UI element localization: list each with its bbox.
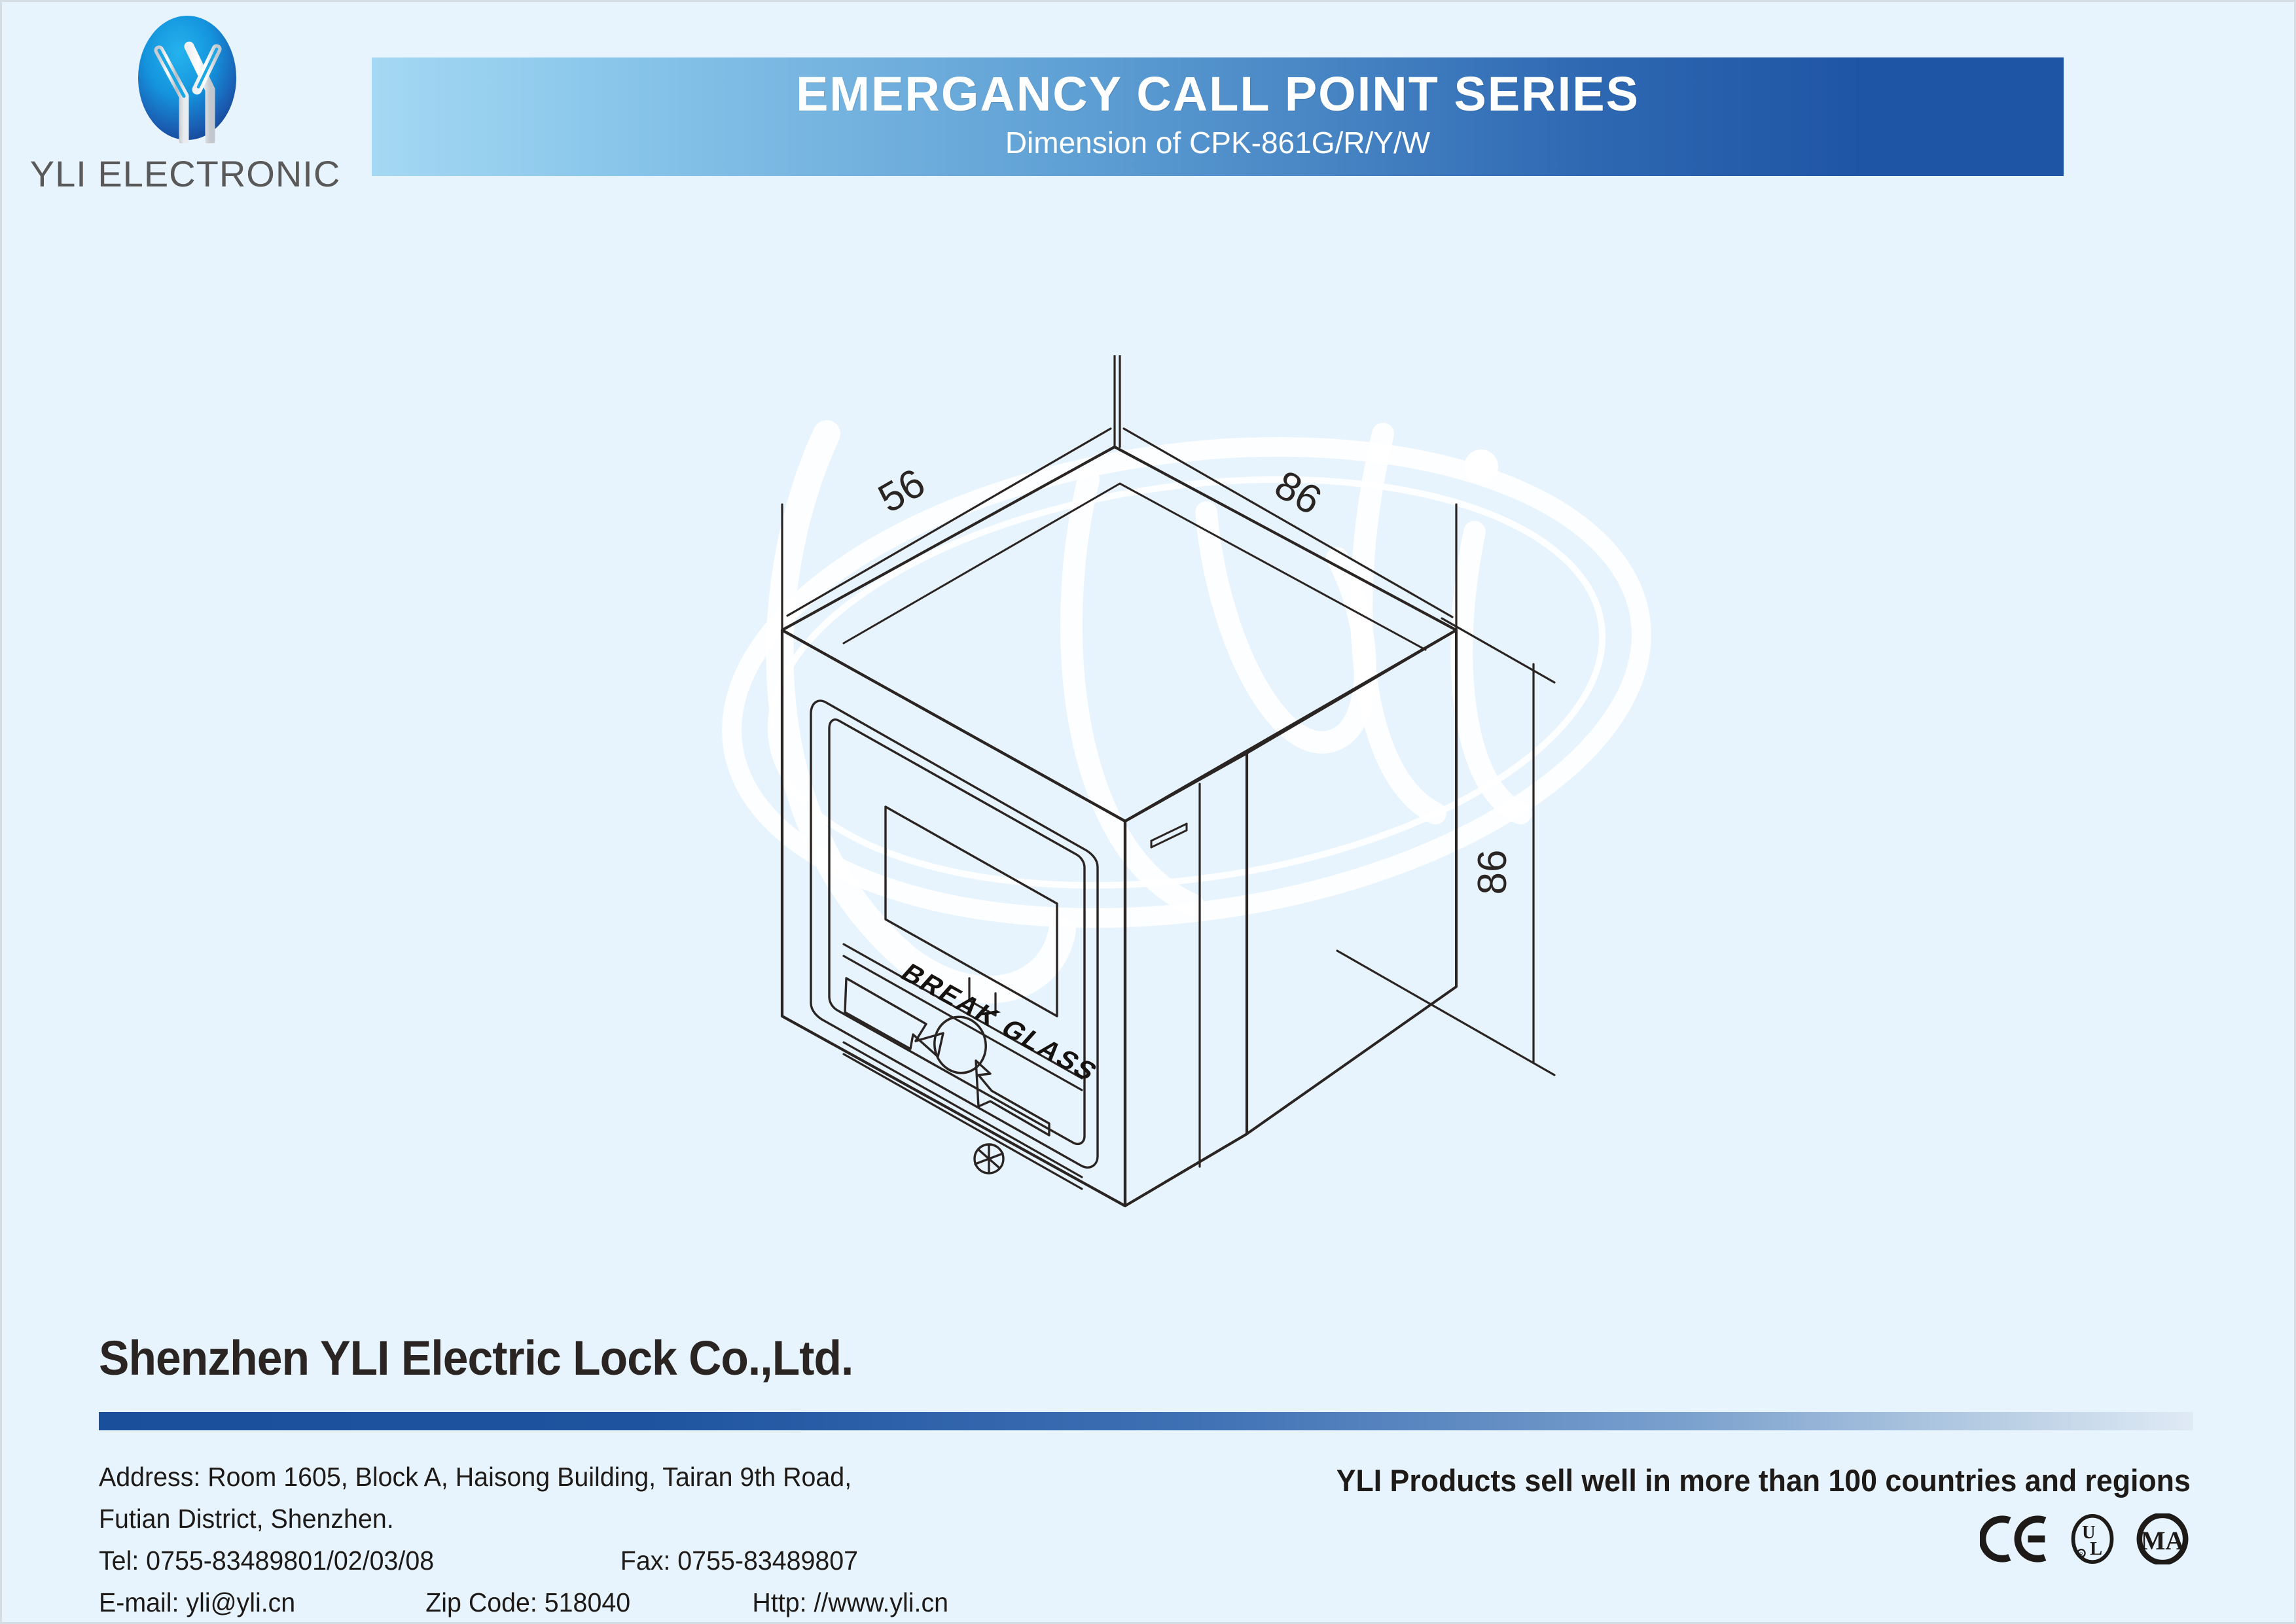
marketing-tagline: YLI Products sell well in more than 100 … bbox=[1336, 1462, 2191, 1498]
brand-logo: YLI ELECTRONIC bbox=[22, 7, 349, 197]
certification-marks: U L R MA bbox=[1980, 1513, 2191, 1564]
logo-wordmark: YLI ELECTRONIC bbox=[22, 152, 349, 195]
svg-text:MA: MA bbox=[2141, 1526, 2185, 1555]
address-line-2: Futian District, Shenzhen. bbox=[99, 1498, 1104, 1540]
svg-text:R: R bbox=[2079, 1551, 2083, 1557]
page-title: EMERGANCY CALL POINT SERIES bbox=[372, 66, 2064, 122]
break-glass-label: BREAK GLASS bbox=[895, 958, 1105, 1086]
page-subtitle: Dimension of CPK-861G/R/Y/W bbox=[372, 125, 2064, 160]
fax-label: Fax: 0755-83489807 bbox=[620, 1540, 973, 1581]
web-row: E-mail: yli@yli.cn Zip Code: 518040 Http… bbox=[99, 1581, 1104, 1623]
phone-row: Tel: 0755-83489801/02/03/08 Fax: 0755-83… bbox=[99, 1540, 1104, 1581]
title-banner: EMERGANCY CALL POINT SERIES Dimension of… bbox=[372, 57, 2064, 176]
svg-text:L: L bbox=[2090, 1539, 2102, 1559]
address-line-1: Address: Room 1605, Block A, Haisong Bui… bbox=[99, 1456, 1104, 1498]
datasheet-page: YLI ELECTRONIC EMERGANCY CALL POINT SERI… bbox=[0, 0, 2296, 1624]
footer-divider bbox=[99, 1412, 2193, 1430]
email-label[interactable]: E-mail: yli@yli.cn bbox=[99, 1581, 425, 1623]
contact-block: Address: Room 1605, Block A, Haisong Bui… bbox=[99, 1456, 1146, 1623]
zipcode-label: Zip Code: 518040 bbox=[425, 1581, 752, 1623]
tel-label: Tel: 0755-83489801/02/03/08 bbox=[99, 1540, 620, 1581]
company-name: Shenzhen YLI Electric Lock Co.,Ltd. bbox=[99, 1330, 853, 1386]
website-label[interactable]: Http: //www.yli.cn bbox=[752, 1581, 948, 1623]
ma-mark-icon: MA bbox=[2134, 1513, 2191, 1564]
ce-mark-icon bbox=[1980, 1513, 2051, 1564]
ul-mark-icon: U L R bbox=[2069, 1513, 2116, 1564]
yli-y-emblem-icon bbox=[133, 12, 242, 143]
product-dimension-drawing: 56 86 86 bbox=[683, 355, 1599, 1271]
dimension-label-depth: 56 bbox=[871, 460, 933, 521]
dimension-label-height: 86 bbox=[1470, 850, 1515, 895]
dimension-label-width: 86 bbox=[1267, 462, 1329, 523]
